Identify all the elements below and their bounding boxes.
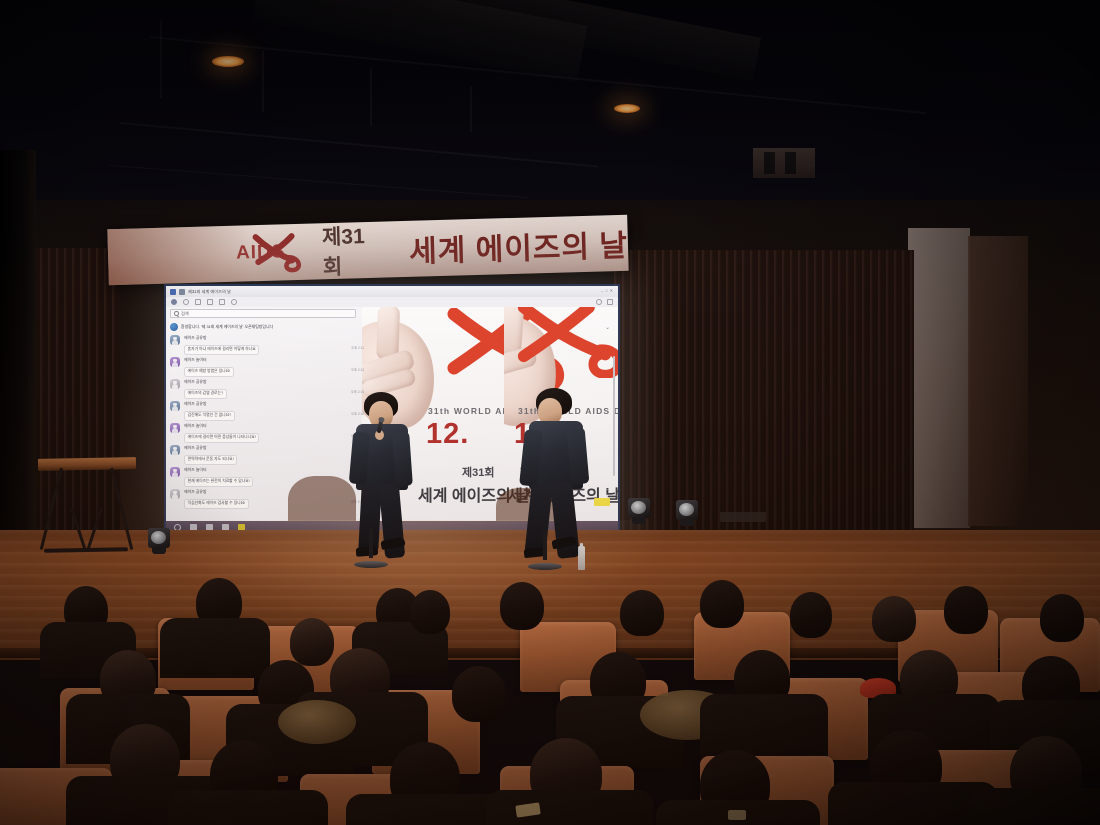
audience-head	[1040, 594, 1084, 642]
audience	[0, 560, 1100, 825]
ceiling-beam	[262, 50, 264, 112]
ceiling-vent	[753, 148, 815, 178]
aids-ribbon-icon	[247, 230, 306, 276]
audience-head	[790, 592, 832, 638]
fur-hood	[278, 700, 356, 744]
ceiling-light	[212, 56, 244, 67]
audience-head	[700, 580, 744, 628]
ceiling-beam	[110, 165, 529, 199]
banner-title: 세계 에이즈의 날	[408, 221, 628, 271]
ceiling-beam	[470, 86, 472, 132]
arm-right	[392, 431, 413, 486]
audience-head	[944, 586, 988, 634]
ceiling-beam	[160, 20, 162, 98]
audience-shoulders	[168, 790, 328, 825]
par-stage-light	[628, 498, 650, 518]
audience-head	[410, 590, 450, 634]
audience-shoulders	[160, 618, 270, 678]
audience-head	[452, 666, 506, 722]
audience-head	[872, 596, 916, 642]
audience-shoulders	[486, 790, 654, 825]
handheld-paper	[728, 810, 746, 820]
par-stage-light	[676, 500, 698, 520]
ceiling-beam	[370, 68, 372, 126]
audience-head	[290, 618, 334, 666]
ceiling-beam	[120, 122, 598, 167]
ceiling-light	[614, 104, 640, 113]
audience-shoulders	[968, 788, 1100, 825]
banner-edition: 제31회	[322, 220, 385, 282]
stage-curtain-right	[614, 250, 914, 540]
par-stage-light	[148, 528, 170, 548]
audience-head	[500, 582, 544, 630]
audience-head	[620, 590, 664, 636]
arm-right	[567, 427, 590, 484]
wall-panel	[908, 228, 970, 528]
keyboard-stand	[52, 468, 122, 546]
stage-equipment-case	[720, 512, 766, 522]
stage-pillar	[0, 150, 36, 570]
auditorium-scene: AIDS 제31회 세계 에이즈의 날 31th WORLD AIDS DAY …	[0, 0, 1100, 825]
wall-panel-dark	[968, 236, 1028, 526]
